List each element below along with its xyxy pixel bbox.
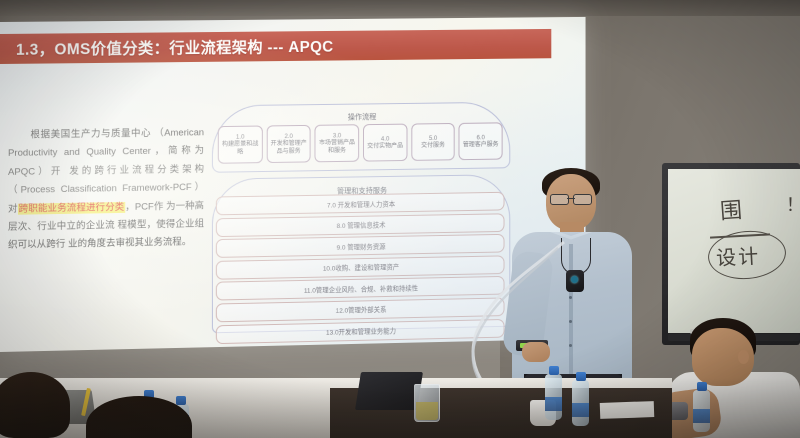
process-name: 交付实物产品	[367, 142, 403, 150]
process-box: 4.0 交付实物产品	[363, 124, 407, 162]
process-name: 开发和管理产品与服务	[268, 140, 309, 156]
management-row: 12.0管理外部关系	[216, 297, 505, 322]
whiteboard-handwriting-mark: ！	[786, 191, 800, 217]
whiteboard-handwriting-top: 围	[719, 192, 743, 225]
ceiling-band	[0, 0, 800, 16]
process-box: 2.0 开发和管理产品与服务	[266, 125, 311, 163]
process-number: 6.0	[477, 134, 485, 141]
paragraph-line-6-pre: 对	[8, 203, 18, 214]
paragraph-line-6-post: ，PCF作	[125, 201, 163, 213]
management-row-label: 8.0 管理信息技术	[337, 219, 386, 230]
process-box: 3.0 市场营销产品和服务	[315, 124, 359, 162]
whiteboard-handwriting-bottom: 设计	[715, 240, 760, 271]
floor-shadow	[0, 378, 800, 438]
operating-processes-row: 1.0 构建愿景和战略 2.0 开发和管理产品与服务 3.0 市场营销产品和服务…	[218, 122, 503, 163]
process-number: 5.0	[429, 134, 437, 141]
projected-slide: 1.3，OMS价值分类：行业流程架构 --- APQC 根据美国生产力与质量中心…	[0, 17, 586, 352]
management-row-label: 7.0 开发和管理人力资本	[327, 198, 395, 209]
management-row-label: 10.0收购、建设和管理资产	[323, 262, 399, 273]
microphone-icon	[566, 270, 584, 292]
slide-title: 1.3，OMS价值分类：行业流程架构 --- APQC	[0, 35, 333, 60]
management-row-label: 11.0管理企业风险、合规、补救和持续性	[304, 282, 418, 294]
management-row: 10.0收购、建设和管理资产	[216, 255, 505, 279]
management-row-label: 9.0 管理财务资源	[337, 241, 386, 252]
paragraph-line-9: 业的角度去审视其业务流程。	[68, 237, 191, 250]
process-box: 1.0 构建愿景和战略	[218, 126, 263, 164]
slide-title-bar: 1.3，OMS价值分类：行业流程架构 --- APQC	[0, 29, 551, 64]
process-box: 5.0 交付服务	[411, 123, 455, 161]
process-box: 6.0 管理客户服务	[459, 122, 503, 160]
glasses-icon	[550, 194, 592, 203]
process-name: 构建愿景和战略	[220, 140, 261, 156]
paragraph-line-5: Classification Framework-PCF）	[61, 182, 204, 195]
management-row: 11.0管理企业风险、合规、补救和持续性	[216, 276, 505, 301]
management-row: 7.0 开发和管理人力资本	[216, 192, 505, 216]
management-row: 8.0 管理信息技术	[216, 213, 505, 237]
paragraph-line-1: 根据美国生产力与质量中心	[30, 128, 151, 141]
management-row: 9.0 管理财务资源	[216, 234, 505, 258]
management-row: 13.0开发和管理业务能力	[216, 319, 505, 344]
process-name: 管理客户服务	[463, 141, 499, 149]
process-name: 交付服务	[421, 142, 445, 150]
attendee-ear	[738, 350, 749, 364]
process-name: 市场营销产品和服务	[317, 139, 357, 155]
management-processes-list: 7.0 开发和管理人力资本 8.0 管理信息技术 9.0 管理财务资源 10.0…	[216, 192, 505, 346]
management-row-label: 13.0开发和管理业务能力	[326, 325, 396, 336]
slide-paragraph: 根据美国生产力与质量中心 （American Productivity and …	[8, 124, 204, 255]
management-row-label: 12.0管理外部关系	[336, 304, 387, 315]
apqc-diagram: 操作流程 1.0 构建愿景和战略 2.0 开发和管理产品与服务 3.0 市场营销…	[212, 102, 508, 332]
screenshot-root: 1.3，OMS价值分类：行业流程架构 --- APQC 根据美国生产力与质量中心…	[0, 0, 800, 438]
presenter-hand	[522, 342, 550, 362]
whiteboard-surface: 围 ！ 设计	[668, 169, 800, 333]
paragraph-highlight: 跨职能业务流程进行分类	[18, 202, 126, 215]
process-number: 4.0	[381, 135, 389, 142]
